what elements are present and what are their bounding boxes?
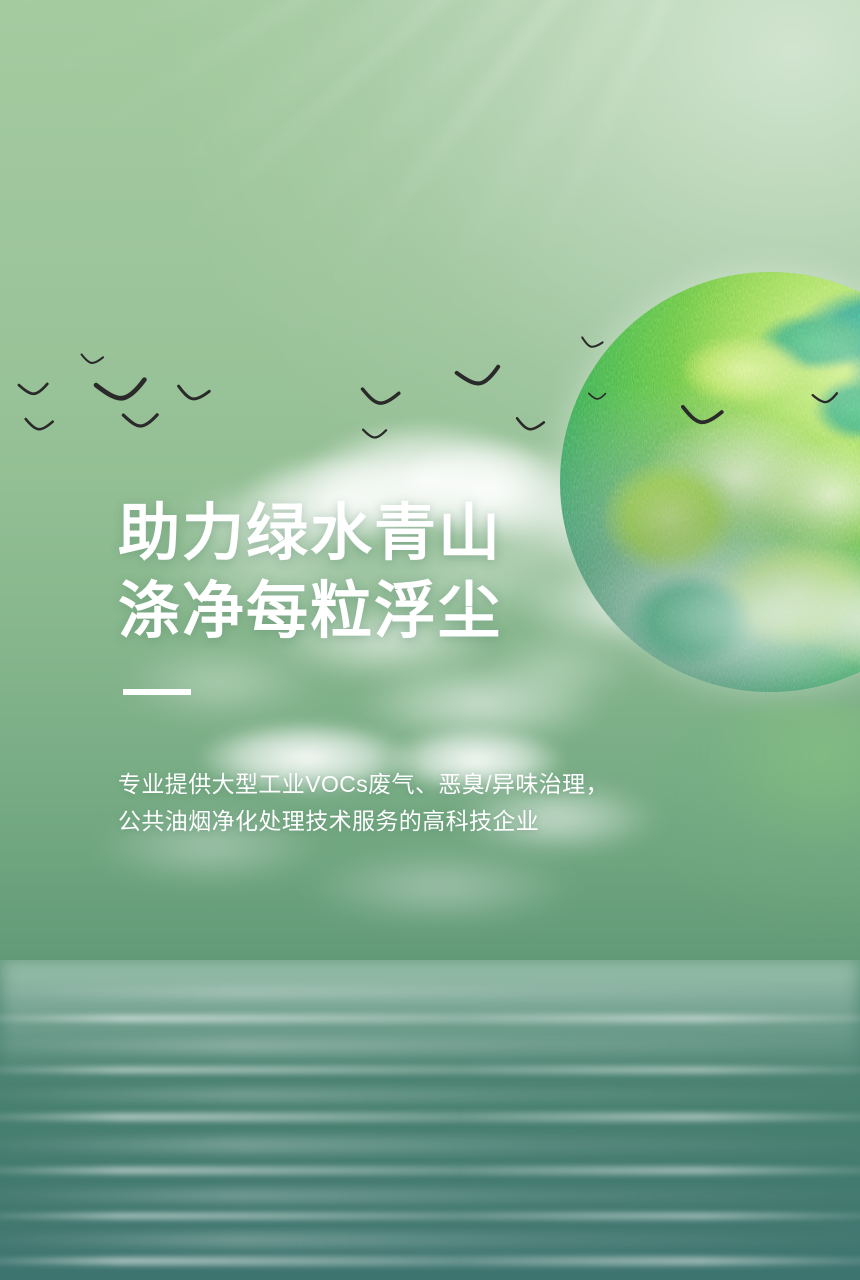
subtitle-line-1: 专业提供大型工业VOCs废气、恶臭/异味治理， <box>118 766 609 803</box>
poster-content: 助力绿水青山 涤净每粒浮尘 专业提供大型工业VOCs废气、恶臭/异味治理， 公共… <box>0 0 860 1280</box>
eco-banner-poster: 助力绿水青山 涤净每粒浮尘 专业提供大型工业VOCs废气、恶臭/异味治理， 公共… <box>0 0 860 1280</box>
page-subtitle: 专业提供大型工业VOCs废气、恶臭/异味治理， 公共油烟净化处理技术服务的高科技… <box>118 766 609 840</box>
heading-rule <box>123 689 191 695</box>
headline-line-1: 助力绿水青山 <box>118 495 502 573</box>
headline-line-2: 涤净每粒浮尘 <box>118 573 502 651</box>
subtitle-line-2: 公共油烟净化处理技术服务的高科技企业 <box>118 803 609 840</box>
page-title: 助力绿水青山 涤净每粒浮尘 <box>118 495 502 651</box>
